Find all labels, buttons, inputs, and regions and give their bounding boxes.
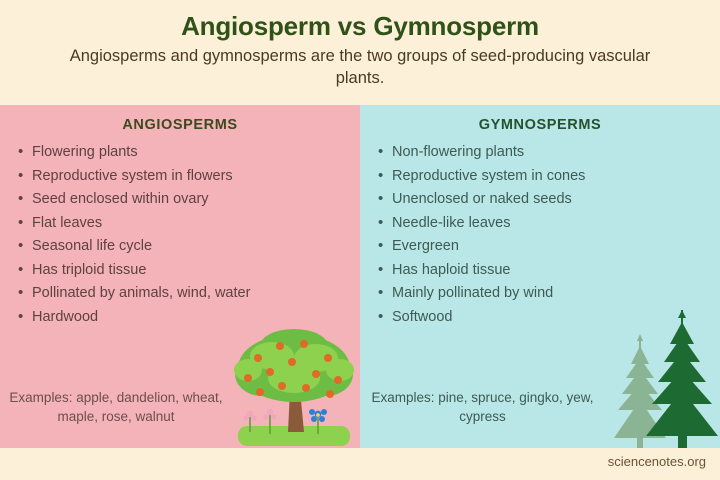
list-item: Has haploid tissue [378, 259, 720, 283]
page-subtitle: Angiosperms and gymnosperms are the two … [60, 46, 660, 90]
list-item: Reproductive system in cones [378, 165, 720, 189]
panel-gymnosperms: GYMNOSPERMS Non-flowering plants Reprodu… [360, 105, 720, 448]
infographic-root: Angiosperm vs Gymnosperm Angiosperms and… [0, 0, 720, 480]
source-credit: sciencenotes.org [608, 454, 706, 469]
list-item: Hardwood [18, 306, 360, 330]
list-item: Non-flowering plants [378, 141, 720, 165]
examples-angiosperms: Examples: apple, dandelion, wheat, maple… [0, 388, 232, 426]
panel-heading-angiosperms: ANGIOSPERMS [0, 105, 360, 133]
list-item: Seed enclosed within ovary [18, 188, 360, 212]
list-item: Evergreen [378, 235, 720, 259]
header-banner: Angiosperm vs Gymnosperm Angiosperms and… [0, 0, 720, 105]
list-item: Reproductive system in flowers [18, 165, 360, 189]
bullet-list-gymnosperms: Non-flowering plants Reproductive system… [360, 141, 720, 329]
list-item: Mainly pollinated by wind [378, 282, 720, 306]
page-title: Angiosperm vs Gymnosperm [0, 0, 720, 42]
list-item: Has triploid tissue [18, 259, 360, 283]
apple-tree-icon [232, 328, 356, 448]
list-item: Softwood [378, 306, 720, 330]
list-item: Flat leaves [18, 212, 360, 236]
list-item: Unenclosed or naked seeds [378, 188, 720, 212]
bullet-list-angiosperms: Flowering plants Reproductive system in … [0, 141, 360, 329]
list-item: Seasonal life cycle [18, 235, 360, 259]
list-item: Needle-like leaves [378, 212, 720, 236]
list-item: Flowering plants [18, 141, 360, 165]
conifer-trees-icon [602, 310, 720, 448]
examples-gymnosperms: Examples: pine, spruce, gingko, yew, cyp… [360, 388, 605, 426]
comparison-panels: ANGIOSPERMS Flowering plants Reproductiv… [0, 105, 720, 448]
panel-angiosperms: ANGIOSPERMS Flowering plants Reproductiv… [0, 105, 360, 448]
list-item: Pollinated by animals, wind, water [18, 282, 360, 306]
footer-bar: sciencenotes.org [0, 448, 720, 480]
panel-heading-gymnosperms: GYMNOSPERMS [360, 105, 720, 133]
